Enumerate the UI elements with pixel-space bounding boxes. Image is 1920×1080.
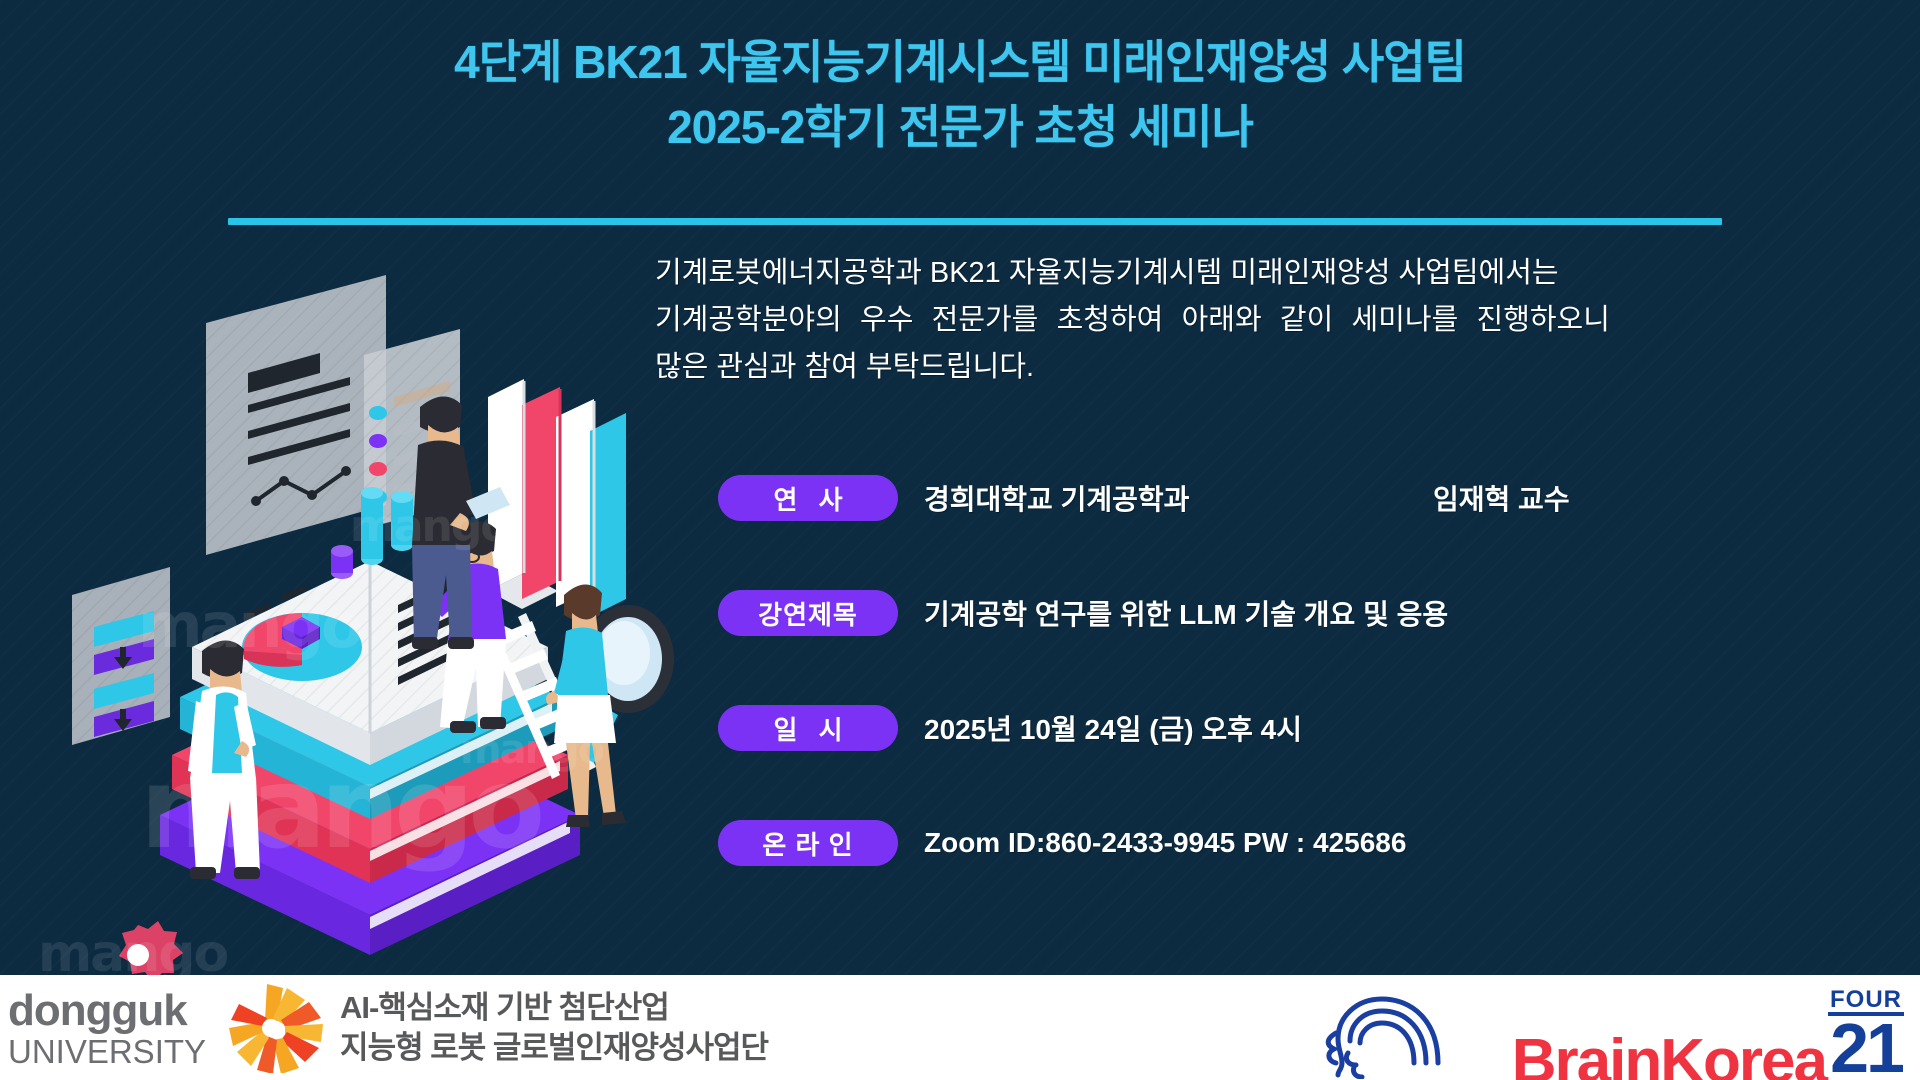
seminar-info-table: 연 사 경희대학교 기계공학과 임재혁 교수 강연제목 기계공학 연구를 위한 … (718, 475, 1868, 935)
badge-online: 온 라 인 (718, 820, 898, 866)
watermark-text-mid: mango (460, 727, 604, 773)
pinwheel-svg (212, 983, 330, 1073)
intro-line-2-w8: 진행하오니 (1477, 297, 1610, 344)
intro-line-2-w5: 아래와 (1182, 297, 1262, 344)
poster-title: 4단계 BK21 자율지능기계시스템 미래인재양성 사업팀 2025-2학기 전… (0, 30, 1920, 161)
title-line-2: 2025-2학기 전문가 초청 세미나 (0, 95, 1920, 160)
intro-line-2-w7: 세미나를 (1352, 297, 1459, 344)
intro-line-2-w1: 기계공학분야의 (655, 297, 842, 344)
info-row-datetime: 일 시 2025년 10월 24일 (금) 오후 4시 (718, 705, 1868, 751)
pinwheel-icon (212, 983, 330, 1073)
dongguk-university-logo: dongguk UNIVERSITY (8, 989, 206, 1068)
info-row-lecture-title: 강연제목 기계공학 연구를 위한 LLM 기술 개요 및 응용 (718, 590, 1868, 636)
brain-korea-21-logo: BrainKorea FOUR 21 (1320, 985, 1910, 1079)
watermark-text: mango (138, 589, 361, 662)
badge-datetime: 일 시 (718, 705, 898, 751)
speaker-name: 임재혁 교수 (1433, 478, 1570, 518)
info-row-speaker: 연 사 경희대학교 기계공학과 임재혁 교수 (718, 475, 1868, 521)
intro-line-2-w2: 우수 (860, 297, 913, 344)
dongguk-logo-line2: UNIVERSITY (8, 1035, 206, 1068)
footer-left-group: dongguk UNIVERSITY (8, 983, 768, 1073)
brain-head-icon (1320, 991, 1520, 1079)
info-row-online: 온 라 인 Zoom ID:860-2433-9945 PW : 425686 (718, 820, 1868, 866)
intro-line-2-w6: 같이 (1280, 297, 1333, 344)
poster-canvas: mango mango mango mango mango 4단계 BK21 자… (0, 0, 1920, 1080)
brainkorea-wordmark: BrainKorea (1512, 1031, 1826, 1080)
datetime-text: 2025년 10월 24일 (금) 오후 4시 (924, 708, 1302, 748)
lecture-title-text: 기계공학 연구를 위한 LLM 기술 개요 및 응용 (924, 593, 1448, 633)
footer-bar: dongguk UNIVERSITY (0, 975, 1920, 1080)
illustration-svg: mango mango mango mango mango (20, 255, 720, 975)
slogan-line-2: 지능형 로봇 글로벌인재양성사업단 (340, 1028, 768, 1068)
speaker-affiliation: 경희대학교 기계공학과 (924, 478, 1189, 518)
intro-line-1: 기계로봇에너지공학과 BK21 자율지능기계시템 미래인재양성 사업팀에서는 (655, 250, 1610, 297)
watermark-text-corner: mango (38, 924, 228, 975)
intro-paragraph: 기계로봇에너지공학과 BK21 자율지능기계시템 미래인재양성 사업팀에서는 기… (655, 250, 1610, 391)
watermark-text-small: mango (350, 501, 509, 552)
zoom-info-text[interactable]: Zoom ID:860-2433-9945 PW : 425686 (924, 827, 1406, 859)
intro-line-3: 많은 관심과 참여 부탁드립니다. (655, 344, 1610, 391)
intro-line-2: 기계공학분야의 우수 전문가를 초청하여 아래와 같이 세미나를 진행하오니 (655, 297, 1610, 344)
isometric-illustration: mango mango mango mango mango (20, 255, 720, 975)
badge-speaker: 연 사 (718, 475, 898, 521)
intro-line-2-w4: 초청하여 (1057, 297, 1164, 344)
slogan-line-1: AI-핵심소재 기반 첨단산업 (340, 988, 768, 1028)
bk21-number-group: FOUR 21 (1828, 987, 1904, 1080)
title-divider (228, 218, 1722, 225)
program-slogan: AI-핵심소재 기반 첨단산업 지능형 로봇 글로벌인재양성사업단 (340, 988, 768, 1067)
dongguk-logo-line1: dongguk (8, 989, 206, 1033)
title-line-1: 4단계 BK21 자율지능기계시스템 미래인재양성 사업팀 (0, 30, 1920, 95)
intro-line-2-w3: 전문가를 (932, 297, 1039, 344)
brain-head-svg (1320, 991, 1520, 1079)
badge-lecture-title: 강연제목 (718, 590, 898, 636)
bk-21-number: 21 (1828, 1016, 1904, 1080)
standing-books (488, 379, 626, 617)
